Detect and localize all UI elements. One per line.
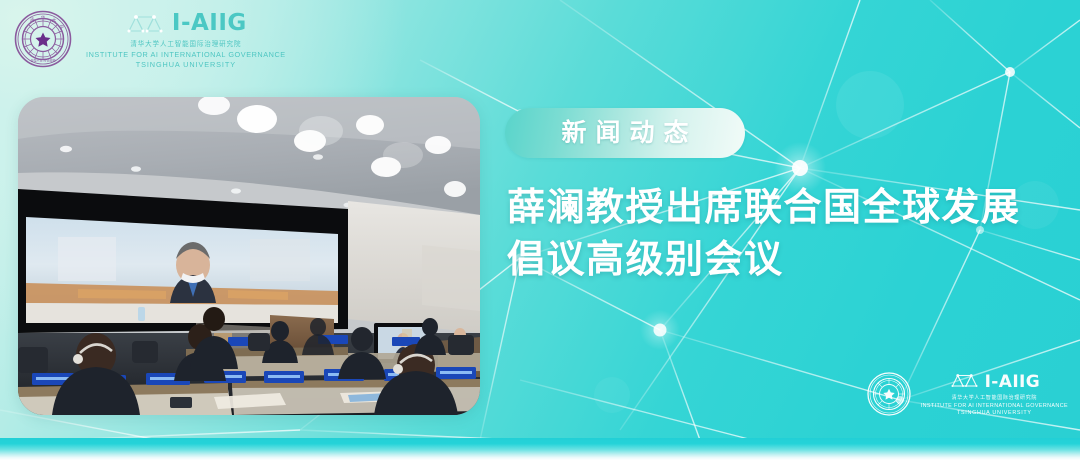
header-logo-text: I-AIIG 清华大学人工智能国际治理研究院 INSTITUTE FOR AI … [86,10,286,69]
svg-text:清: 清 [30,16,35,23]
category-badge-label: 新闻动态 [552,121,697,146]
svg-text:华: 华 [41,14,46,21]
header-logo: 清 华 大 学 自强不息 厚德载物 [14,8,286,69]
category-badge: 新闻动态 [505,108,745,158]
header-logo-wordmark: I-AIIG [172,12,247,35]
header-logo-en-name-line1: INSTITUTE FOR AI INTERNATIONAL GOVERNANC… [86,50,286,59]
svg-text:大: 大 [52,16,57,23]
footer-logo-en-name-line2: TSINGHUA UNIVERSITY [957,410,1032,416]
tsinghua-university-seal-icon: 清 华 大 学 自强不息 厚德载物 [14,10,72,68]
footer-logo-text: I-AIIG 清华大学人工智能国际治理研究院 INSTITUTE FOR AI … [921,372,1068,416]
bottom-gradient-strip [0,438,1080,460]
header-logo-en-name-line2: TSINGHUA UNIVERSITY [136,60,236,69]
news-banner: 清 华 大 学 自强不息 厚德载物 [0,0,1080,460]
header-logo-cn-name: 清华大学人工智能国际治理研究院 [130,38,241,49]
headline: 薛澜教授出席联合国全球发展 倡议高级别会议 [507,182,1063,286]
iaiig-network-mark-icon [949,371,983,394]
tsinghua-university-seal-icon [867,372,911,416]
headline-line-2: 倡议高级别会议 [507,234,1063,286]
headline-line-1: 薛澜教授出席联合国全球发展 [507,182,1063,234]
footer-logo-cn-name: 清华大学人工智能国际治理研究院 [952,394,1038,401]
footer-logo-en-name-line1: INSTITUTE FOR AI INTERNATIONAL GOVERNANC… [921,403,1068,409]
footer-logo: I-AIIG 清华大学人工智能国际治理研究院 INSTITUTE FOR AI … [867,372,1068,416]
footer-logo-wordmark: I-AIIG [985,374,1041,391]
iaiig-network-mark-icon [125,11,169,35]
svg-text:自强不息 厚德载物: 自强不息 厚德载物 [31,57,56,62]
conference-hall-photo [18,97,480,415]
svg-text:学: 学 [59,24,64,31]
